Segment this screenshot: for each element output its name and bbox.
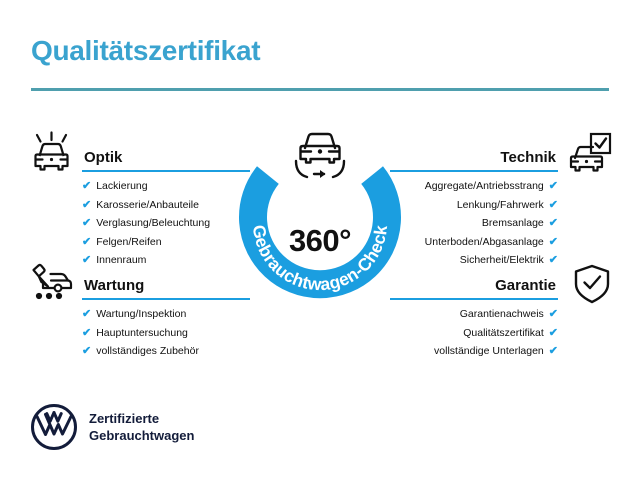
car-front-checkbox-icon [566, 131, 614, 175]
section-technik: Technik Aggregate/Antriebsstrang✔ Lenkun… [390, 142, 558, 274]
header-divider [31, 88, 609, 91]
list-item-label: Aggregate/Antriebsstrang [425, 181, 544, 192]
footer-text: Zertifizierte Gebrauchtwagen [89, 410, 194, 444]
section-technik-divider [390, 170, 558, 172]
check-icon: ✔ [549, 255, 558, 266]
list-item-label: Felgen/Reifen [96, 237, 161, 248]
list-item: ✔Felgen/Reifen [82, 237, 250, 248]
section-wartung: Wartung ✔Wartung/Inspektion ✔Hauptunters… [82, 270, 250, 365]
list-item: Garantienachweis✔ [390, 309, 558, 320]
list-item: Lenkung/Fahrwerk✔ [390, 200, 558, 211]
section-garantie-divider [390, 298, 558, 300]
check-icon: ✔ [82, 346, 91, 357]
list-item-label: Bremsanlage [482, 218, 544, 229]
list-item-label: Verglasung/Beleuchtung [96, 218, 210, 229]
check-icon: ✔ [82, 237, 91, 248]
list-item-label: Unterboden/Abgasanlage [425, 237, 544, 248]
car-service-pen-icon [28, 262, 76, 306]
list-item: Bremsanlage✔ [390, 218, 558, 229]
list-item: ✔Lackierung [82, 181, 250, 192]
check-icon: ✔ [82, 255, 91, 266]
section-optik-list: ✔Lackierung ✔Karosserie/Anbauteile ✔Verg… [82, 181, 250, 266]
section-garantie: Garantie Garantienachweis✔ Qualitätszert… [390, 270, 558, 365]
list-item: ✔Karosserie/Anbauteile [82, 200, 250, 211]
section-wartung-divider [82, 298, 250, 300]
list-item: ✔Verglasung/Beleuchtung [82, 218, 250, 229]
check-icon: ✔ [82, 328, 91, 339]
list-item: ✔Wartung/Inspektion [82, 309, 250, 320]
list-item-label: Garantienachweis [460, 309, 544, 320]
list-item-label: Lenkung/Fahrwerk [457, 200, 544, 211]
section-garantie-title: Garantie [495, 277, 556, 294]
section-optik-divider [82, 170, 250, 172]
section-technik-list: Aggregate/Antriebsstrang✔ Lenkung/Fahrwe… [390, 181, 558, 266]
list-item: ✔vollständiges Zubehör [82, 346, 250, 357]
list-item: Qualitätszertifikat✔ [390, 328, 558, 339]
footer-line-1: Zertifizierte [89, 410, 194, 427]
check-icon: ✔ [549, 181, 558, 192]
section-optik-title: Optik [84, 149, 122, 166]
list-item-label: vollständiges Zubehör [96, 346, 199, 357]
section-technik-header: Technik [390, 142, 558, 172]
check-icon: ✔ [82, 200, 91, 211]
list-item: ✔Hauptuntersuchung [82, 328, 250, 339]
section-garantie-list: Garantienachweis✔ Qualitätszertifikat✔ v… [390, 309, 558, 357]
list-item-label: Karosserie/Anbauteile [96, 200, 199, 211]
list-item: Aggregate/Antriebsstrang✔ [390, 181, 558, 192]
list-item-label: Hauptuntersuchung [96, 328, 188, 339]
list-item: Unterboden/Abgasanlage✔ [390, 237, 558, 248]
shield-check-icon [570, 262, 614, 306]
list-item-label: Innenraum [96, 255, 146, 266]
section-garantie-header: Garantie [390, 270, 558, 300]
section-optik: Optik ✔Lackierung ✔Karosserie/Anbauteile… [82, 142, 250, 274]
check-icon: ✔ [549, 328, 558, 339]
check-icon: ✔ [549, 309, 558, 320]
car-front-lights-icon [28, 131, 76, 175]
page-title: Qualitätszertifikat [31, 35, 260, 67]
certificate-page: Qualitätszertifikat Optik ✔Lackierung ✔K… [0, 0, 640, 480]
badge-value: 360° [230, 223, 410, 259]
check-icon: ✔ [549, 346, 558, 357]
check-icon: ✔ [549, 218, 558, 229]
check-icon: ✔ [549, 237, 558, 248]
list-item-label: Sicherheit/Elektrik [460, 255, 544, 266]
section-wartung-title: Wartung [84, 277, 144, 294]
footer-brand: Zertifizierte Gebrauchtwagen [31, 404, 194, 450]
list-item-label: Qualitätszertifikat [463, 328, 544, 339]
vw-logo [31, 404, 77, 450]
list-item-label: Lackierung [96, 181, 147, 192]
section-technik-title: Technik [500, 149, 556, 166]
check-icon: ✔ [82, 309, 91, 320]
list-item: vollständige Unterlagen✔ [390, 346, 558, 357]
check-icon: ✔ [82, 218, 91, 229]
car-rotation-icon [287, 124, 353, 184]
check-icon: ✔ [549, 200, 558, 211]
footer-line-2: Gebrauchtwagen [89, 427, 194, 444]
section-wartung-list: ✔Wartung/Inspektion ✔Hauptuntersuchung ✔… [82, 309, 250, 357]
section-wartung-header: Wartung [82, 270, 250, 300]
list-item: ✔Innenraum [82, 255, 250, 266]
list-item-label: vollständige Unterlagen [434, 346, 544, 357]
section-optik-header: Optik [82, 142, 250, 172]
list-item: Sicherheit/Elektrik✔ [390, 255, 558, 266]
check-icon: ✔ [82, 181, 91, 192]
list-item-label: Wartung/Inspektion [96, 309, 186, 320]
